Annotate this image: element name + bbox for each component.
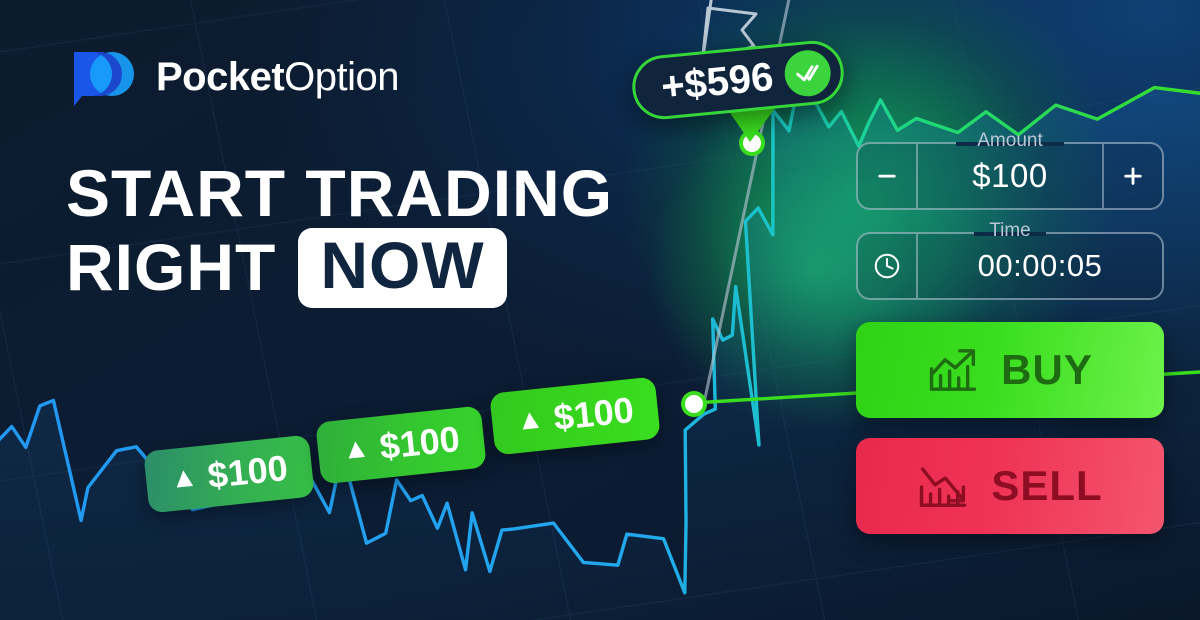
time-label: Time: [979, 221, 1041, 240]
profit-amount: +$596: [659, 54, 775, 110]
headline-line-1: START TRADING: [66, 160, 613, 228]
brand-name-regular: Option: [284, 55, 399, 99]
amount-value[interactable]: $100: [918, 144, 1102, 208]
trade-panel: Amount $100 Time: [856, 142, 1164, 554]
double-check-icon: [783, 48, 833, 98]
sell-label: SELL: [991, 462, 1102, 510]
buy-label: BUY: [1001, 346, 1093, 394]
brand-logo: PocketOption: [66, 46, 399, 108]
headline-line-1-text: START TRADING: [66, 160, 613, 228]
pocket-option-logo-icon: [66, 46, 138, 108]
headline-now-badge: NOW: [298, 228, 506, 308]
brand-name: PocketOption: [156, 55, 399, 100]
chart-arrow-up-icon: [927, 346, 979, 394]
chart-arrow-down-icon: [917, 462, 969, 510]
time-field[interactable]: Time 00:00:05: [856, 232, 1164, 300]
promo-banner: PocketOption START TRADING RIGHT NOW ▲ $…: [0, 0, 1200, 620]
plus-icon: [1120, 163, 1146, 189]
sell-button[interactable]: SELL: [856, 438, 1164, 534]
brand-name-bold: Pocket: [156, 55, 284, 99]
triangle-up-icon: ▲: [169, 462, 200, 493]
amount-field[interactable]: Amount $100: [856, 142, 1164, 210]
buy-button[interactable]: BUY: [856, 322, 1164, 418]
amount-label: Amount: [967, 131, 1052, 150]
amount-decrease-button[interactable]: [858, 144, 918, 208]
headline-line-2-prefix: RIGHT: [66, 234, 276, 302]
headline-line-2: RIGHT NOW: [66, 228, 613, 308]
time-picker-button[interactable]: [858, 234, 918, 298]
amount-increase-button[interactable]: [1102, 144, 1162, 208]
trade-entry-marker-icon: [681, 391, 707, 417]
time-value[interactable]: 00:00:05: [918, 234, 1162, 298]
trade-badge-1-amount: $100: [206, 447, 290, 497]
trade-badge-3-amount: $100: [552, 389, 636, 439]
triangle-up-icon: ▲: [341, 433, 372, 464]
clock-icon: [872, 251, 902, 281]
minus-icon: [874, 163, 900, 189]
triangle-up-icon: ▲: [515, 404, 546, 435]
headline: START TRADING RIGHT NOW: [66, 160, 613, 308]
trade-badge-2-amount: $100: [378, 418, 462, 468]
